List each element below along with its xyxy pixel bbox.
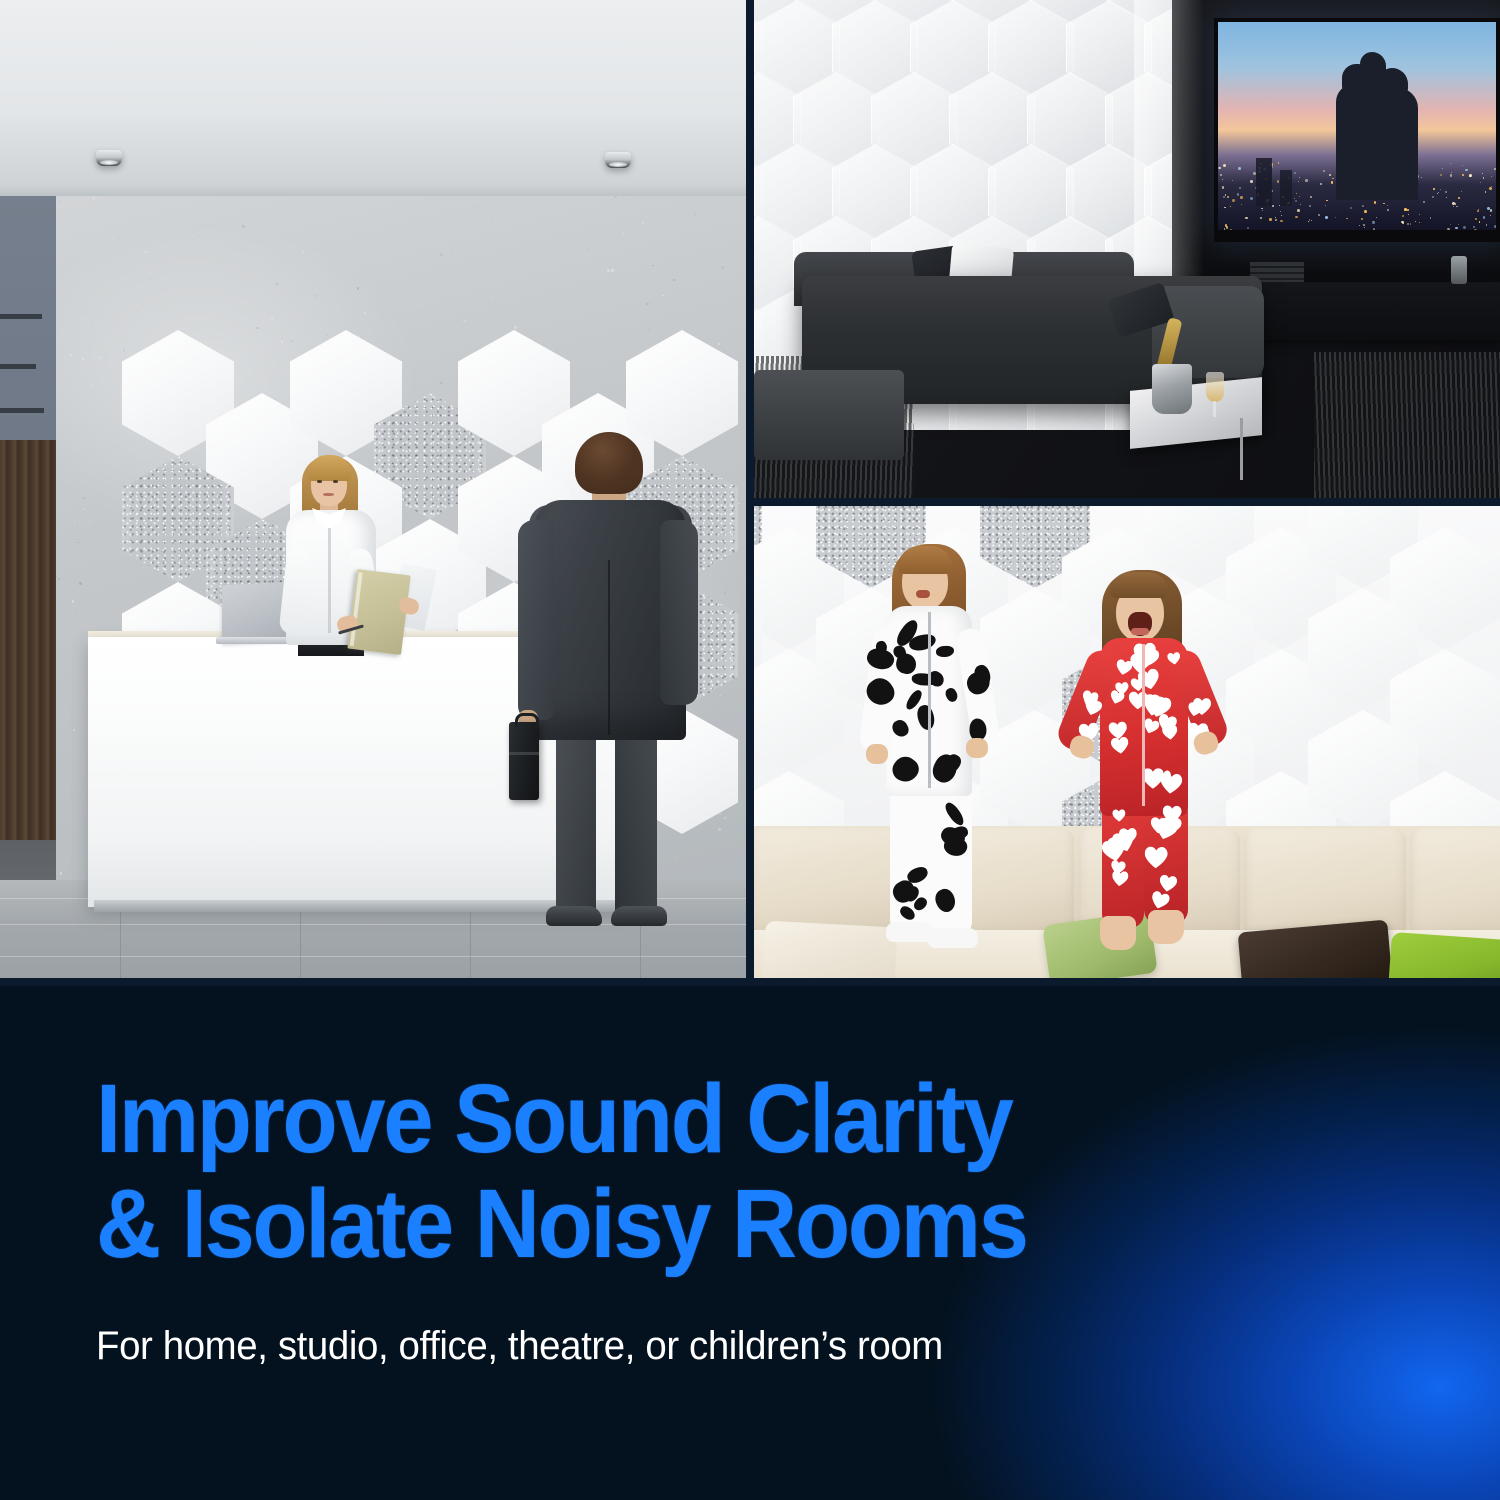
ice-bucket-icon (1152, 364, 1192, 414)
collage-divider-horizontal (754, 498, 1500, 506)
projector-screen (1218, 22, 1496, 230)
child-figure-heart-onesie (1070, 564, 1230, 934)
theatre-ottoman (754, 370, 904, 460)
theatre-rug-right (1314, 352, 1500, 498)
media-console (1232, 282, 1500, 340)
collage-panel-home-theatre (754, 0, 1500, 498)
child-figure-cow-onesie (858, 536, 1008, 936)
couple-silhouette (1330, 70, 1422, 200)
image-collage (0, 0, 1500, 986)
ceiling-spotlight-icon (605, 152, 631, 168)
office-ceiling (0, 0, 746, 200)
page-subheadline: For home, studio, office, theatre, or ch… (96, 1322, 1386, 1370)
briefcase-icon (509, 722, 539, 800)
collage-panel-children-room (754, 506, 1500, 986)
product-feature-image: Improve Sound Clarity & Isolate Noisy Ro… (0, 0, 1500, 1500)
speaker-icon (1451, 256, 1467, 284)
ceiling-spotlight-icon (96, 150, 122, 166)
collage-divider-bottom (0, 978, 1500, 986)
collage-panel-office-reception (0, 0, 746, 986)
collage-divider-vertical (746, 0, 754, 986)
side-table-leg (1240, 418, 1243, 480)
page-headline: Improve Sound Clarity & Isolate Noisy Ro… (96, 1066, 1346, 1276)
message-band: Improve Sound Clarity & Isolate Noisy Ro… (0, 986, 1500, 1500)
wine-glass-icon (1206, 372, 1224, 402)
